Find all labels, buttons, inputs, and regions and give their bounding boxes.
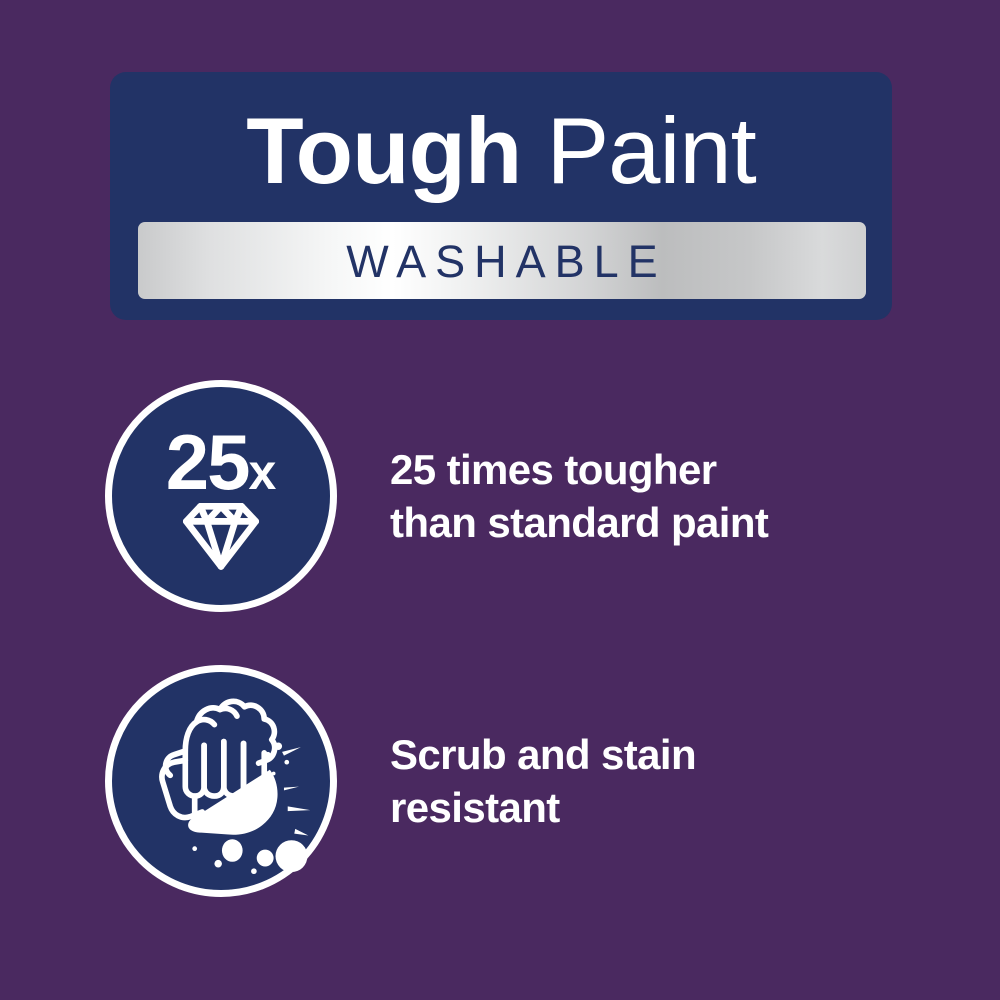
product-title-banner: Tough Paint WASHABLE [110, 72, 892, 320]
washable-silver-bar: WASHABLE [138, 222, 866, 299]
feature-scrub-line2: resistant [390, 781, 960, 834]
hand-wiping-stain-icon [112, 672, 330, 890]
diamond-icon [112, 387, 330, 605]
feature-toughness-text: 25 times tougher than standard paint [390, 380, 960, 612]
washable-label: WASHABLE [138, 222, 866, 299]
title-bold-word: Tough [246, 98, 521, 203]
feature-scrub-line1: Scrub and stain [390, 728, 960, 781]
feature-scrub-text: Scrub and stain resistant [390, 665, 960, 897]
title-light-word: Paint [546, 98, 755, 203]
feature-toughness-line1: 25 times tougher [390, 443, 960, 496]
feature-row-toughness: 25x 25 times tougher than standard paint [105, 380, 965, 612]
scrub-badge [105, 665, 337, 897]
toughness-badge: 25x [105, 380, 337, 612]
product-feature-poster: Tough Paint WASHABLE 25x [0, 0, 1000, 1000]
feature-toughness-line2: than standard paint [390, 496, 960, 549]
page-title: Tough Paint [110, 86, 892, 216]
feature-row-scrub: Scrub and stain resistant [105, 665, 965, 897]
